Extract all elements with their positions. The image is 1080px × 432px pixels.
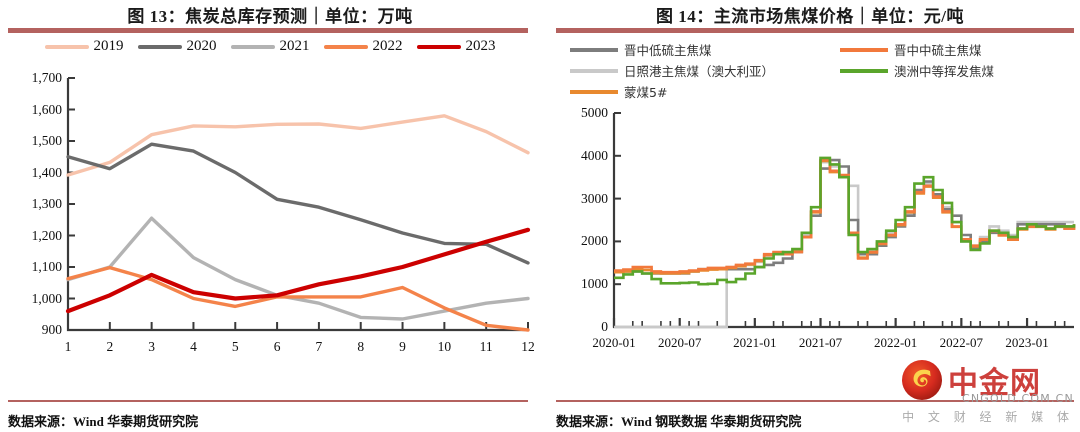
legend-swatch-icon (324, 45, 368, 49)
legend-label: 2020 (187, 38, 217, 55)
y-axis-tick-label: 4000 (556, 145, 608, 167)
legend-swatch-icon (231, 45, 275, 49)
x-axis-tick-label: 10 (426, 336, 462, 358)
legend-item-蒙煤5#[interactable]: 蒙煤5# (570, 82, 840, 101)
legend-item-2022[interactable]: 2022 (324, 38, 403, 55)
x-axis-tick-label: 7 (301, 336, 337, 358)
legend-swatch-icon (570, 48, 618, 52)
legend-label: 2021 (280, 38, 310, 55)
y-axis-tick-label: 2000 (556, 230, 608, 252)
y-axis-tick-label: 1,300 (6, 193, 62, 215)
figure-14-title: 图 14：主流市场焦煤价格｜单位：元/吨 (540, 2, 1080, 27)
legend-swatch-icon (417, 45, 461, 49)
series-line-澳洲中等挥发焦煤 (614, 158, 1074, 284)
series-line-2020 (68, 144, 528, 263)
series-line-日照港主焦煤（澳大利亚） (614, 162, 1074, 327)
figure-13-top-rule (8, 28, 528, 33)
y-axis-tick-label: 1,100 (6, 256, 62, 278)
x-axis-tick-label: 2020-07 (638, 332, 722, 354)
legend-swatch-icon (570, 90, 618, 94)
legend-item-2021[interactable]: 2021 (231, 38, 310, 55)
figure-14-top-rule (556, 28, 1074, 33)
legend-label: 2022 (373, 38, 403, 55)
x-axis-tick-label: 2 (92, 336, 128, 358)
figure-14-plot: 0100020003000400050002020-012020-072021-… (540, 105, 1080, 365)
figure-14-source: 数据来源：Wind 钢联数据 华泰期货研究院 (556, 411, 801, 430)
figure-13-legend: 20192020202120222023 (10, 38, 530, 55)
figure-13-plot: 9001,0001,1001,2001,3001,4001,5001,6001,… (0, 70, 540, 365)
legend-item-日照港主焦煤（澳大利亚）[interactable]: 日照港主焦煤（澳大利亚） (570, 61, 840, 80)
legend-item-2019[interactable]: 2019 (45, 38, 124, 55)
x-axis-tick-label: 6 (259, 336, 295, 358)
legend-label: 蒙煤5# (624, 82, 667, 101)
legend-swatch-icon (570, 69, 618, 73)
watermark-tagline: 中 文 财 经 新 媒 体 (902, 408, 1074, 425)
y-axis-tick-label: 3000 (556, 188, 608, 210)
y-axis-tick-label: 1,700 (6, 67, 62, 89)
x-axis-tick-label: 3 (134, 336, 170, 358)
figure-13-panel: 图 13：焦炭总库存预测｜单位：万吨 20192020202120222023 … (0, 0, 540, 432)
series-line-2021 (68, 218, 528, 319)
figure-13-source: 数据来源：Wind 华泰期货研究院 (8, 411, 198, 430)
y-axis-tick-label: 5000 (556, 102, 608, 124)
legend-item-晋中中硫主焦煤[interactable]: 晋中中硫主焦煤 (840, 40, 1070, 59)
legend-item-2020[interactable]: 2020 (138, 38, 217, 55)
x-axis-tick-label: 9 (385, 336, 421, 358)
y-axis-tick-label: 1000 (556, 273, 608, 295)
figure-14-panel: 图 14：主流市场焦煤价格｜单位：元/吨 晋中低硫主焦煤晋中中硫主焦煤日照港主焦… (540, 0, 1080, 432)
watermark-domain: CNGOLD.COM.CN (962, 392, 1074, 405)
figure-13-title: 图 13：焦炭总库存预测｜单位：万吨 (0, 2, 540, 27)
y-axis-tick-label: 1,500 (6, 130, 62, 152)
legend-item-2023[interactable]: 2023 (417, 38, 496, 55)
legend-label: 日照港主焦煤（澳大利亚） (624, 61, 774, 80)
x-axis-tick-label: 2021-07 (779, 332, 863, 354)
figure-page: 图 13：焦炭总库存预测｜单位：万吨 20192020202120222023 … (0, 0, 1080, 432)
figure-14-svg: 0100020003000400050002020-012020-072021-… (540, 105, 1080, 365)
figure-14-legend: 晋中低硫主焦煤晋中中硫主焦煤日照港主焦煤（澳大利亚）澳洲中等挥发焦煤蒙煤5# (570, 40, 1070, 101)
x-axis-tick-label: 2023-01 (985, 332, 1069, 354)
watermark: 中金网 CNGOLD.COM.CN 中 文 财 经 新 媒 体 (900, 356, 1076, 430)
x-axis-tick-label: 4 (175, 336, 211, 358)
figure-14-bottom-rule (556, 400, 1074, 402)
legend-label: 2023 (466, 38, 496, 55)
x-axis-tick-label: 1 (50, 336, 86, 358)
x-axis-tick-label: 8 (343, 336, 379, 358)
x-axis-tick-label: 5 (217, 336, 253, 358)
legend-swatch-icon (840, 48, 888, 52)
legend-label: 晋中低硫主焦煤 (624, 40, 712, 59)
x-axis-tick-label: 11 (468, 336, 504, 358)
legend-item-澳洲中等挥发焦煤[interactable]: 澳洲中等挥发焦煤 (840, 61, 1070, 80)
legend-label: 澳洲中等挥发焦煤 (894, 61, 994, 80)
legend-item-晋中低硫主焦煤[interactable]: 晋中低硫主焦煤 (570, 40, 840, 59)
y-axis-tick-label: 1,200 (6, 225, 62, 247)
y-axis-tick-label: 1,000 (6, 288, 62, 310)
legend-label: 晋中中硫主焦煤 (894, 40, 982, 59)
series-line-2019 (68, 116, 528, 175)
y-axis-tick-label: 1,600 (6, 99, 62, 121)
figure-13-svg: 9001,0001,1001,2001,3001,4001,5001,6001,… (0, 70, 540, 365)
legend-swatch-icon (45, 45, 89, 49)
legend-swatch-icon (840, 69, 888, 73)
y-axis-tick-label: 1,400 (6, 162, 62, 184)
legend-swatch-icon (138, 45, 182, 49)
figure-13-bottom-rule (8, 400, 528, 402)
legend-label: 2019 (94, 38, 124, 55)
